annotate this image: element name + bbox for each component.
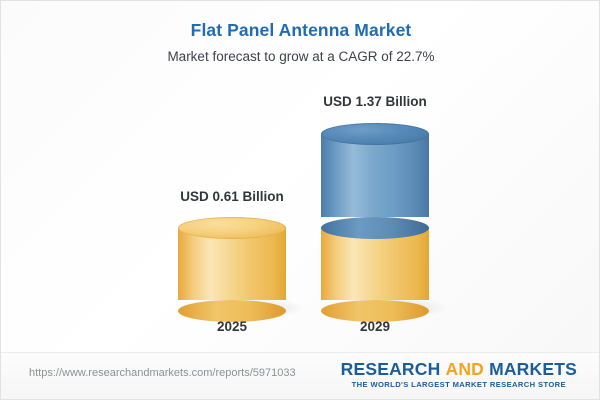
bar-value-label-2029: USD 1.37 Billion [275,94,475,109]
logo-word-research: RESEARCH [341,359,441,379]
cylinder-top-ellipse [178,217,286,239]
logo-wordmark: RESEARCH AND MARKETS [341,359,577,379]
logo-word-markets: MARKETS [489,359,577,379]
bar-segment-2025-base[interactable] [178,217,286,311]
cylinder-body [321,134,429,217]
chart-card: Flat Panel Antenna Market Market forecas… [0,0,600,400]
bar-value-label-2025: USD 0.61 Billion [132,189,332,204]
logo-tagline: THE WORLD'S LARGEST MARKET RESEARCH STOR… [341,380,577,389]
logo-word-and: AND [445,359,484,379]
cylinder-bottom-ellipse [321,217,429,239]
report-url[interactable]: https://www.researchandmarkets.com/repor… [29,367,296,379]
footer-bar: https://www.researchandmarkets.com/repor… [1,352,599,399]
brand-logo[interactable]: RESEARCH AND MARKETS THE WORLD'S LARGEST… [341,359,577,389]
bar-category-label-2029: 2029 [275,319,475,334]
cylinder-top-ellipse [321,123,429,145]
chart-plot-area: USD 0.61 Billion 2025 USD 1.37 Billion [1,1,600,353]
bar-segment-2029-growth[interactable] [321,123,429,228]
